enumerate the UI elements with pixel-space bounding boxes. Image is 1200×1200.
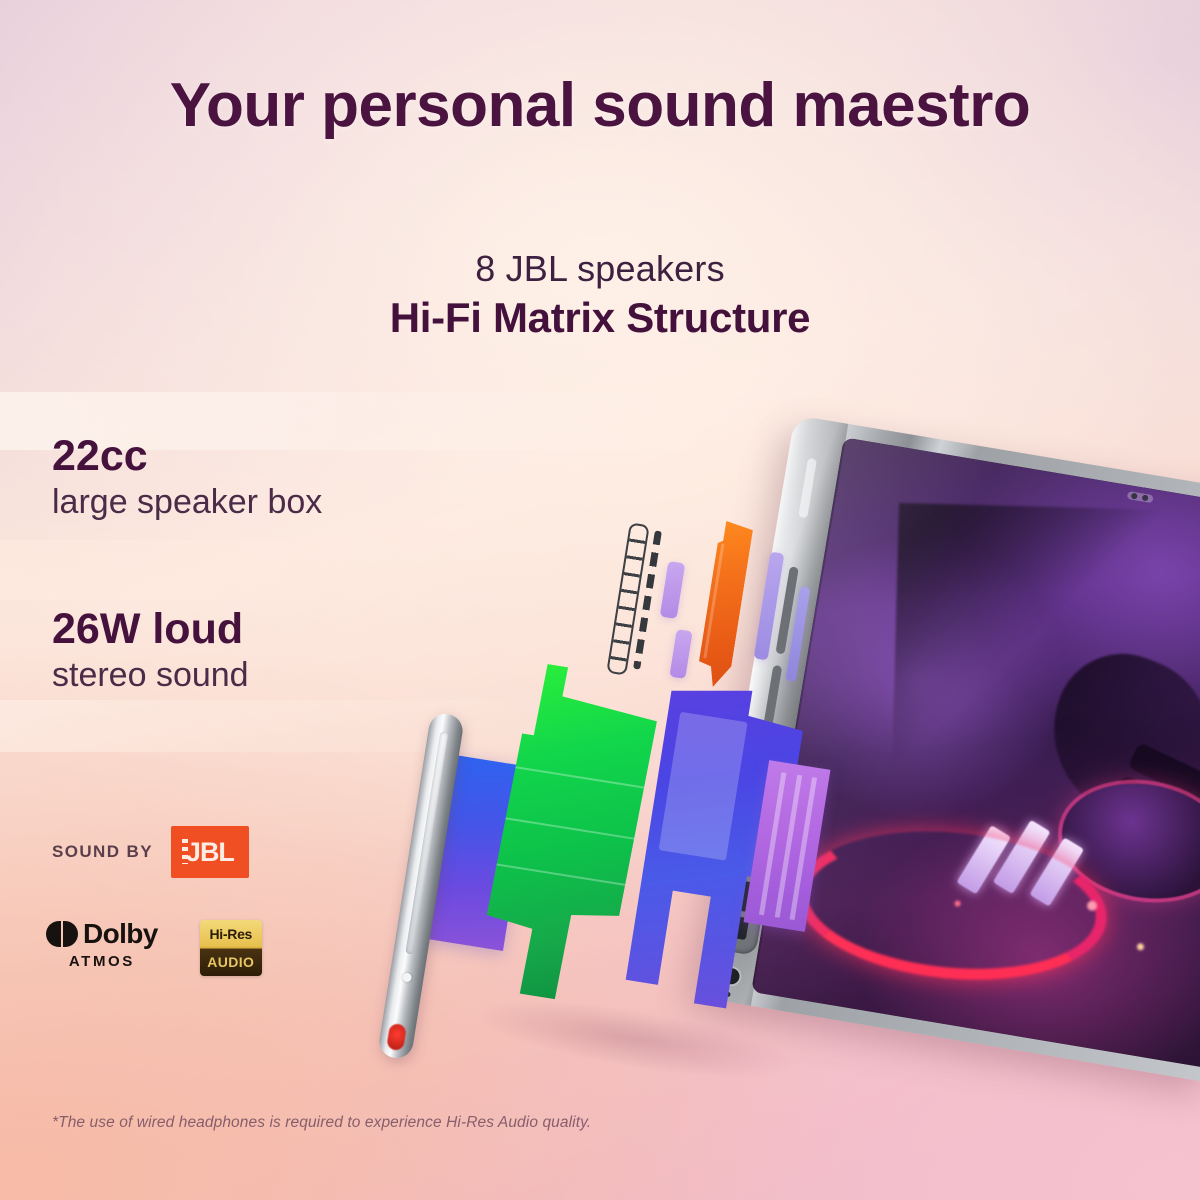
dolby-atmos-sublabel: ATMOS [69,953,135,970]
grille-dash-part [633,530,662,669]
page-title: Your personal sound maestro [0,70,1200,141]
subtitle-block: 8 JBL speakers Hi-Fi Matrix Structure [0,248,1200,342]
spec-label: stereo sound [52,655,249,696]
certification-badges: Dolby ATMOS Hi-Res AUDIO [46,920,262,976]
dolby-wordmark: Dolby [46,920,158,948]
hi-res-audio-badge-icon: Hi-Res AUDIO [200,920,262,976]
spec-value: 22cc [52,432,322,480]
promo-image: Your personal sound maestro 8 JBL speake… [0,0,1200,1200]
lavender-bar-part [660,561,686,619]
orange-speaker-module-part [686,519,753,690]
spec-value: 26W loud [52,605,249,653]
hi-res-label: Hi-Res [200,920,262,947]
dolby-atmos-logo: Dolby ATMOS [46,920,158,970]
dolby-word: Dolby [83,920,158,948]
dolby-double-d-icon [46,921,78,947]
grille-strip-part [606,522,650,675]
jbl-logo-icon: JBL [171,826,249,878]
red-tip-indicator [386,1023,407,1051]
lavender-bar-part [669,629,692,679]
blue-flat-panel-part [426,755,532,951]
jbl-logo-text: JBL [186,839,234,866]
background-band [0,540,640,600]
spec-label: large speaker box [52,482,322,523]
background-band [0,700,600,752]
sound-by-jbl-badge: SOUND BY JBL [52,826,249,878]
footnote-text: *The use of wired headphones is required… [52,1114,591,1132]
sound-by-label: SOUND BY [52,842,153,862]
stylus-rod-part [377,711,465,1060]
subtitle-line-1: 8 JBL speakers [0,248,1200,290]
tablet-device [696,415,1200,1099]
jbl-dots-icon [182,839,188,864]
spec-item-speaker-box: 22cc large speaker box [52,432,322,523]
tablet-chassis [698,415,1200,1083]
subtitle-line-2: Hi-Fi Matrix Structure [0,294,1200,342]
green-speaker-module-part [455,659,664,1006]
spec-item-power: 26W loud stereo sound [52,605,249,696]
audio-label: AUDIO [200,947,262,976]
